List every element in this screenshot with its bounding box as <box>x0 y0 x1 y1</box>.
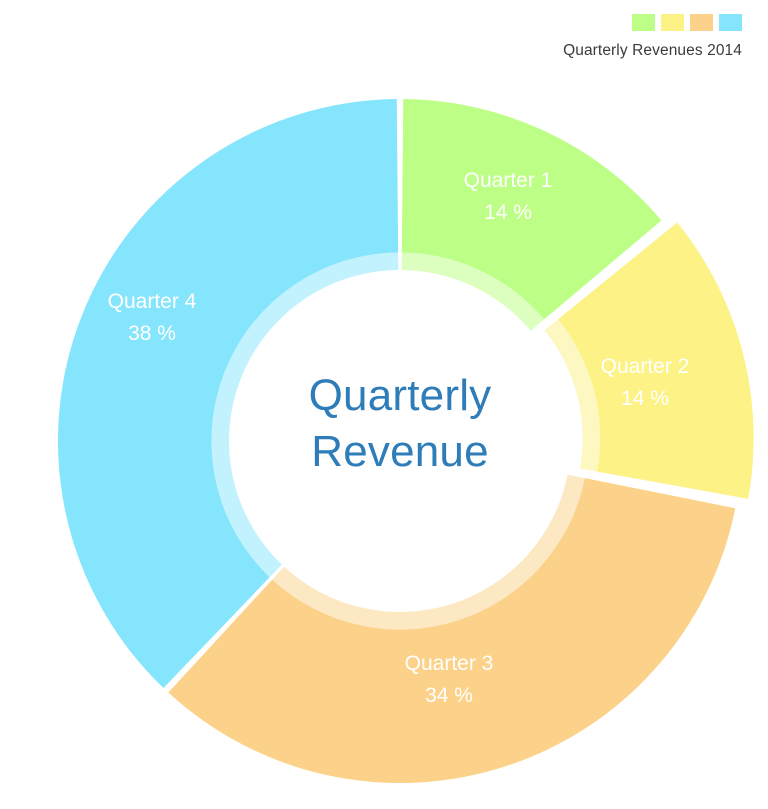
slice-label-quarter-1: Quarter 1 <box>464 169 553 192</box>
donut-slice-quarter-3[interactable] <box>168 478 735 783</box>
slice-value-quarter-4: 38 % <box>128 322 176 345</box>
slice-value-quarter-3: 34 % <box>425 684 473 707</box>
slice-value-quarter-2: 14 % <box>621 387 669 410</box>
donut-chart-svg: Quarter 114 %Quarter 214 %Quarter 334 %Q… <box>0 0 768 809</box>
donut-slices <box>58 99 754 783</box>
slice-label-quarter-3: Quarter 3 <box>405 652 494 675</box>
donut-chart: Quarter 114 %Quarter 214 %Quarter 334 %Q… <box>0 0 768 809</box>
slice-label-quarter-4: Quarter 4 <box>108 290 197 313</box>
slice-label-quarter-2: Quarter 2 <box>601 355 690 378</box>
slice-value-quarter-1: 14 % <box>484 201 532 224</box>
